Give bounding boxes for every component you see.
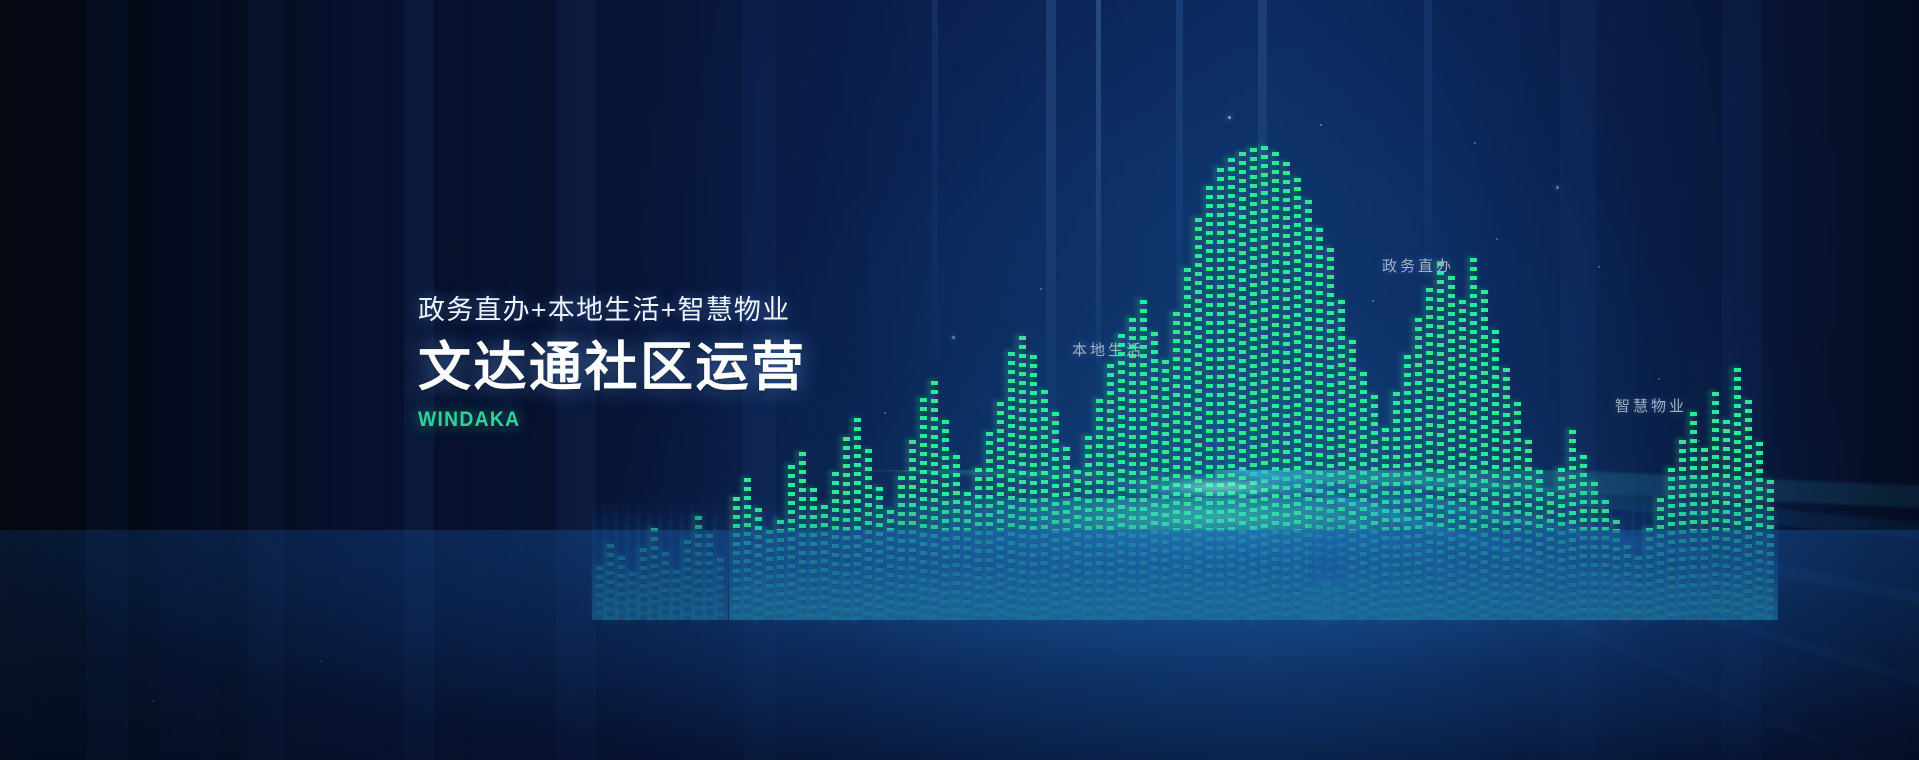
light-beams	[0, 0, 1919, 760]
column-fade-mask	[1598, 500, 1613, 620]
column-fade-mask	[1308, 500, 1323, 620]
column-fade-mask	[1510, 500, 1525, 620]
skyline-column	[1041, 390, 1048, 620]
skyline-column	[1338, 300, 1345, 620]
skyline-column	[777, 520, 784, 620]
column-fade-mask	[1708, 500, 1723, 620]
skyline-column	[766, 530, 773, 620]
column-fade-mask	[1301, 500, 1316, 620]
column-fade-mask	[1675, 500, 1690, 620]
column-fade-mask	[828, 500, 843, 620]
skyline-column	[1129, 318, 1136, 620]
sparkle-dot	[952, 336, 955, 339]
skyline-column	[920, 398, 927, 620]
column-fade-mask	[938, 500, 953, 620]
skyline-column	[909, 440, 916, 620]
skyline-column	[629, 572, 636, 620]
column-fade-mask	[850, 500, 865, 620]
skyline-column	[1701, 448, 1708, 620]
column-fade-mask	[1180, 500, 1195, 620]
skyline-column	[1602, 500, 1609, 620]
perspective-line	[1214, 470, 1919, 760]
skyline-column	[953, 455, 960, 620]
skyline-column	[898, 476, 905, 620]
stripe-band	[86, 0, 128, 760]
skyline-column	[1173, 312, 1180, 620]
column-fade-mask	[1279, 500, 1294, 620]
column-fade-mask	[1290, 500, 1305, 620]
sparkle-dot	[1372, 300, 1374, 302]
sparkle-dot	[1474, 142, 1476, 144]
skyline-column	[1162, 360, 1169, 620]
skyline-column	[788, 465, 795, 620]
stripe-band	[820, 0, 870, 760]
column-fade-mask	[1477, 500, 1492, 620]
sparkle-dot	[1496, 238, 1498, 240]
skyline-column	[684, 540, 691, 620]
skyline-column	[986, 432, 993, 620]
light-beam	[1176, 0, 1183, 500]
stripe-band	[0, 0, 64, 760]
column-fade-mask	[625, 500, 640, 620]
column-fade-mask	[1367, 500, 1382, 620]
sparkle-layer	[0, 0, 1919, 760]
hero-subtitle: 政务直办+本地生活+智慧物业	[418, 294, 807, 328]
stripe-band	[1560, 0, 1596, 760]
sparkle-dot	[1698, 440, 1700, 442]
skyline-column	[1074, 470, 1081, 620]
stripe-band	[320, 0, 390, 760]
skyline-column	[1316, 228, 1323, 620]
column-fade-mask	[1048, 500, 1063, 620]
column-fade-mask	[1752, 500, 1767, 620]
skyline-column	[1052, 412, 1059, 620]
column-fade-mask	[1158, 500, 1173, 620]
column-fade-mask	[1444, 500, 1459, 620]
column-fade-mask	[1763, 500, 1778, 620]
skyline-column	[1591, 482, 1598, 620]
skyline-column	[1118, 334, 1125, 620]
column-fade-mask	[1554, 500, 1569, 620]
column-fade-mask	[1455, 500, 1470, 620]
column-fade-mask	[647, 500, 662, 620]
stripe-band	[1636, 0, 1694, 760]
hero-headline: 文达通社区运营	[418, 338, 807, 397]
sparkle-dot	[1228, 116, 1231, 119]
column-fade-mask	[658, 500, 673, 620]
light-beam	[1046, 0, 1056, 560]
skyline-column	[1239, 152, 1246, 620]
skyline-column	[865, 449, 872, 620]
column-fade-mask	[1642, 500, 1657, 620]
column-fade-mask	[872, 500, 887, 620]
skyline-tag-label: 政务直办	[1382, 255, 1454, 276]
column-fade-mask	[1466, 500, 1481, 620]
skyline-column	[876, 487, 883, 620]
skyline-column	[1250, 148, 1257, 620]
column-fade-mask	[1070, 500, 1085, 620]
column-fade-mask	[762, 500, 777, 620]
skyline-column	[1437, 262, 1444, 620]
column-fade-mask	[1092, 500, 1107, 620]
column-fade-mask	[861, 500, 876, 620]
column-fade-mask	[1697, 500, 1712, 620]
sparkle-dot	[1040, 288, 1042, 290]
column-fade-mask	[1686, 500, 1701, 620]
skyline-column	[1415, 318, 1422, 620]
skyline-column	[1679, 440, 1686, 620]
light-beam	[1096, 0, 1101, 520]
skyline-column	[1008, 352, 1015, 620]
skyline-column	[1085, 436, 1092, 620]
column-fade-mask	[691, 500, 706, 620]
skyline-column	[1272, 152, 1279, 620]
skyline-column	[717, 558, 724, 620]
skyline-column	[832, 472, 839, 620]
skyline-column	[695, 516, 702, 620]
skyline-column	[1536, 470, 1543, 620]
stripe-band	[1722, 0, 1762, 760]
column-fade-mask	[916, 500, 931, 620]
column-fade-mask	[680, 500, 695, 620]
column-fade-mask	[1114, 500, 1129, 620]
skyline-column	[596, 566, 603, 620]
skyline-column	[1228, 158, 1235, 620]
perspective-line	[1214, 470, 1919, 760]
sparkle-dot	[1320, 124, 1322, 126]
perspective-line	[1214, 470, 1919, 658]
column-fade-mask	[1037, 500, 1052, 620]
skyline-column	[1646, 528, 1653, 620]
column-fade-mask	[1433, 500, 1448, 620]
column-fade-mask	[784, 500, 799, 620]
skyline-column	[1470, 258, 1477, 620]
column-fade-mask	[1620, 500, 1635, 620]
skyline-column	[964, 492, 971, 620]
skyline-column	[1712, 392, 1719, 620]
column-fade-mask	[1015, 500, 1030, 620]
skyline-column	[1668, 468, 1675, 620]
skyline-column	[1734, 368, 1741, 620]
skyline-column	[607, 544, 614, 620]
column-fade-mask	[1319, 500, 1334, 620]
stripe-band	[1872, 0, 1919, 760]
skyline-column	[706, 534, 713, 620]
column-fade-mask	[1004, 500, 1019, 620]
skyline-column	[931, 381, 938, 620]
column-fade-mask	[817, 500, 832, 620]
column-fade-mask	[1323, 500, 1338, 620]
column-fade-mask	[1389, 500, 1404, 620]
skyline-column	[1371, 395, 1378, 620]
skyline-tag-label: 智慧物业	[1615, 395, 1687, 416]
skyline-column	[1569, 430, 1576, 620]
skyline-column	[1096, 399, 1103, 620]
background-stripes	[0, 0, 1919, 760]
column-fade-mask	[1587, 500, 1602, 620]
column-fade-mask	[1741, 500, 1756, 620]
skyline-column	[1426, 288, 1433, 620]
perspective-line	[0, 470, 1216, 481]
column-fade-mask	[1532, 500, 1547, 620]
column-fade-mask	[669, 500, 684, 620]
light-beam	[932, 0, 938, 540]
column-fade-mask	[592, 500, 607, 620]
skyline-column	[1503, 368, 1510, 620]
skyline-column	[673, 570, 680, 620]
skyline-column	[1514, 402, 1521, 620]
skyline-column	[1334, 588, 1341, 620]
skyline-column	[1327, 248, 1334, 620]
column-fade-mask	[1026, 500, 1041, 620]
skyline-column	[662, 552, 669, 620]
perspective-line	[1214, 470, 1919, 567]
sparkle-dot	[1598, 266, 1600, 268]
column-fade-mask	[1543, 500, 1558, 620]
skyline-column	[1323, 582, 1330, 620]
perspective-line	[0, 470, 1217, 475]
skyline-column	[1305, 200, 1312, 620]
skyline-column	[1613, 520, 1620, 620]
skyline-column	[1312, 588, 1319, 620]
horizon-glow	[0, 498, 1919, 618]
column-fade-mask	[839, 500, 854, 620]
column-fade-mask	[713, 500, 728, 620]
sparkle-dot	[1658, 378, 1660, 380]
column-fade-mask	[1576, 500, 1591, 620]
column-fade-mask	[614, 500, 629, 620]
skyline-column	[1767, 480, 1774, 620]
skyline-column	[1745, 400, 1752, 620]
skyline-column	[1481, 290, 1488, 620]
skyline-column	[651, 528, 658, 620]
skyline-column	[1151, 332, 1158, 620]
column-fade-mask	[927, 500, 942, 620]
skyline-column	[1382, 428, 1389, 620]
column-fade-mask	[1191, 500, 1206, 620]
stripe-band	[160, 0, 218, 760]
stripe-band	[248, 0, 284, 760]
skyline-column	[1657, 498, 1664, 620]
ground-wash	[0, 530, 1919, 760]
column-fade-mask	[729, 500, 744, 620]
column-fade-mask	[1246, 500, 1261, 620]
skyline-column	[1723, 420, 1730, 620]
column-fade-mask	[1400, 500, 1415, 620]
skyline-column	[1217, 168, 1224, 620]
skyline-column	[744, 478, 751, 620]
column-fade-mask	[1147, 500, 1162, 620]
column-fade-mask	[1378, 500, 1393, 620]
skyline-column	[854, 418, 861, 620]
perspective-line	[1215, 470, 1919, 521]
light-beam	[1424, 0, 1432, 460]
skyline-column	[1195, 218, 1202, 620]
skyline-column	[975, 468, 982, 620]
skyline-column	[942, 420, 949, 620]
column-fade-mask	[1169, 500, 1184, 620]
column-fade-mask	[1312, 500, 1327, 620]
column-fade-mask	[1224, 500, 1239, 620]
column-fade-mask	[1235, 500, 1250, 620]
skyline-column	[1756, 442, 1763, 620]
column-fade-mask	[1565, 500, 1580, 620]
column-fade-mask	[1213, 500, 1228, 620]
column-fade-mask	[1257, 500, 1272, 620]
column-fade-mask	[905, 500, 920, 620]
stripe-band	[1796, 0, 1860, 760]
sparkle-dot	[320, 660, 322, 662]
column-fade-mask	[1499, 500, 1514, 620]
skyline-column	[1184, 268, 1191, 620]
skyline-column	[1206, 186, 1213, 620]
skyline-column	[887, 510, 894, 620]
column-fade-mask	[1330, 500, 1345, 620]
column-fade-mask	[1125, 500, 1140, 620]
skyline-column	[1107, 364, 1114, 620]
skyline-column	[1580, 455, 1587, 620]
column-fade-mask	[1664, 500, 1679, 620]
skyline-column	[1283, 162, 1290, 620]
skyline-column	[843, 437, 850, 620]
column-fade-mask	[702, 500, 717, 620]
column-fade-mask	[1631, 500, 1646, 620]
skyline-column	[755, 508, 762, 620]
column-fade-mask	[1345, 500, 1360, 620]
skyline-column	[1624, 545, 1631, 620]
skyline-column	[1404, 355, 1411, 620]
column-fade-mask	[1609, 500, 1624, 620]
sparkle-dot	[1556, 186, 1559, 189]
brand-wordmark: WINDAKA	[418, 408, 775, 432]
skyline-column	[1690, 412, 1697, 620]
vanishing-point-glow	[1060, 470, 1380, 510]
skyline-column	[1459, 300, 1466, 620]
skyline-column	[1635, 556, 1642, 620]
skyline-column	[997, 402, 1004, 620]
skyline-column	[1393, 392, 1400, 620]
column-fade-mask	[1488, 500, 1503, 620]
skyline-column	[1525, 440, 1532, 620]
column-fade-mask	[1422, 500, 1437, 620]
column-fade-mask	[993, 500, 1008, 620]
light-beam	[1258, 0, 1267, 470]
column-fade-mask	[1719, 500, 1734, 620]
skyline-column	[1360, 372, 1367, 620]
column-fade-mask	[1521, 500, 1536, 620]
skyline-column	[618, 556, 625, 620]
column-fade-mask	[1334, 500, 1349, 620]
column-fade-mask	[971, 500, 986, 620]
city-skyline-chart	[0, 0, 1919, 760]
column-fade-mask	[894, 500, 909, 620]
column-fade-mask	[1268, 500, 1283, 620]
column-fade-mask	[1411, 500, 1426, 620]
skyline-column	[640, 548, 647, 620]
column-fade-mask	[1356, 500, 1371, 620]
skyline-column	[733, 497, 740, 620]
column-fade-mask	[795, 500, 810, 620]
column-fade-mask	[1730, 500, 1745, 620]
column-fade-mask	[636, 500, 651, 620]
column-fade-mask	[740, 500, 755, 620]
skyline-column	[799, 452, 806, 620]
skyline-tag-label: 本地生活	[1072, 339, 1144, 360]
skyline-column	[1294, 178, 1301, 620]
column-fade-mask	[949, 500, 964, 620]
perspective-ground	[0, 470, 1919, 760]
hero-text-block: 政务直办+本地生活+智慧物业 文达通社区运营 WINDAKA	[418, 294, 807, 432]
skyline-column	[1448, 276, 1455, 620]
skyline-column	[810, 488, 817, 620]
sparkle-dot	[152, 700, 154, 702]
sparkle-dot	[884, 412, 886, 414]
column-fade-mask	[1059, 500, 1074, 620]
column-fade-mask	[773, 500, 788, 620]
skyline-column	[1547, 492, 1554, 620]
perspective-line	[0, 470, 1216, 489]
banner-hero: 政务直办+本地生活+智慧物业 文达通社区运营 WINDAKA 政务直办本地生活智…	[0, 0, 1919, 760]
column-fade-mask	[1136, 500, 1151, 620]
column-fade-mask	[1653, 500, 1668, 620]
skyline-column	[1349, 340, 1356, 620]
column-fade-mask	[806, 500, 821, 620]
skyline-column	[1558, 468, 1565, 620]
column-fade-mask	[1103, 500, 1118, 620]
column-fade-mask	[982, 500, 997, 620]
column-fade-mask	[960, 500, 975, 620]
column-fade-mask	[883, 500, 898, 620]
column-fade-mask	[751, 500, 766, 620]
skyline-column	[821, 505, 828, 620]
stripe-band	[1480, 0, 1526, 760]
skyline-column	[1063, 447, 1070, 620]
skyline-column	[1030, 355, 1037, 620]
skyline-column	[1261, 146, 1268, 620]
column-fade-mask	[1081, 500, 1096, 620]
skyline-column	[1492, 330, 1499, 620]
skyline-column	[1019, 336, 1026, 620]
column-fade-mask	[603, 500, 618, 620]
column-fade-mask	[1202, 500, 1217, 620]
